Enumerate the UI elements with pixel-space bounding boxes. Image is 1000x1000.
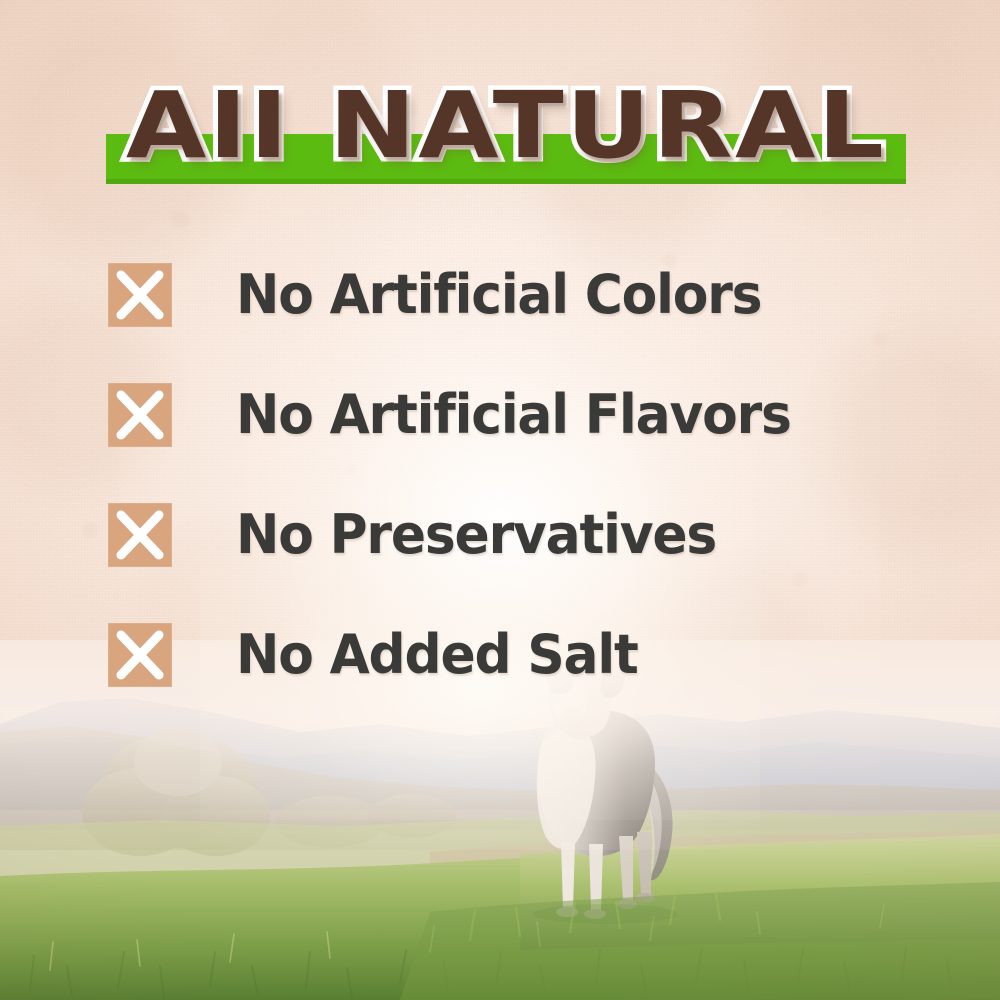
feature-list: No Artificial Colors No Artificial Flavo…	[108, 263, 948, 743]
feature-row: No Added Salt	[108, 623, 948, 743]
all-natural-feature-panel: AII NATURAL No Artificial Colors	[0, 0, 1000, 1000]
x-mark-icon	[108, 383, 172, 447]
x-mark-icon	[108, 503, 172, 567]
feature-row: No Artificial Flavors	[108, 383, 948, 503]
feature-label: No Preservatives	[236, 495, 716, 575]
headline-banner: AII NATURAL	[106, 78, 906, 184]
page-title: AII NATURAL	[54, 74, 958, 178]
feature-row: No Artificial Colors	[108, 263, 948, 383]
x-mark-icon	[108, 623, 172, 687]
feature-row: No Preservatives	[108, 503, 948, 623]
feature-label: No Artificial Colors	[236, 255, 761, 335]
x-mark-icon	[108, 263, 172, 327]
feature-label: No Added Salt	[236, 615, 638, 695]
feature-label: No Artificial Flavors	[236, 375, 791, 455]
